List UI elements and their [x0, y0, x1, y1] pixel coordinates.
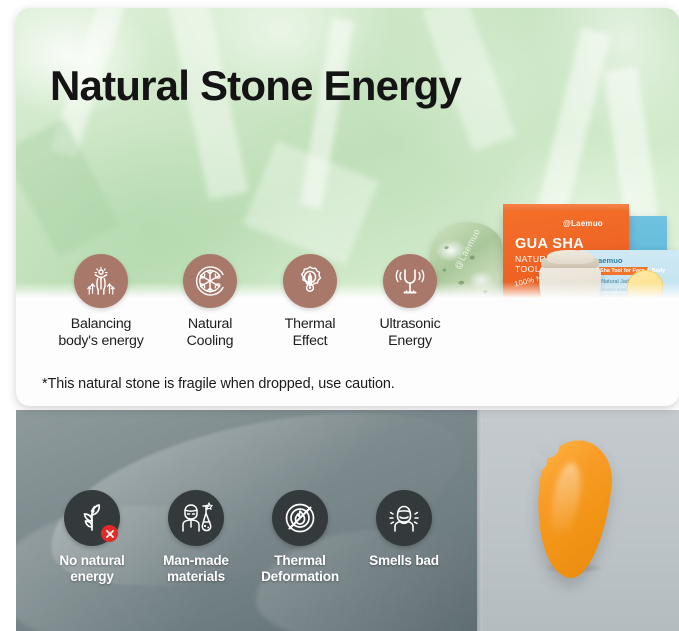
- pro-icon-circle: [183, 254, 237, 308]
- con-feature-label: No natural energy: [59, 553, 124, 585]
- bad-smell-icon: [387, 501, 421, 535]
- orange-box-brand: @Laemuo: [563, 219, 603, 228]
- con-feature-row: No natural energy: [40, 490, 456, 585]
- con-icon-circle: [168, 490, 224, 546]
- pro-icon-circle: [383, 254, 437, 308]
- tuning-fork-icon: [393, 264, 427, 298]
- pouch-ruffle: [547, 250, 593, 264]
- con-feature-smells-bad: Smells bad: [352, 490, 456, 569]
- x-mark-icon: [101, 525, 118, 542]
- panel-divider: [477, 410, 482, 631]
- con-feature-label: Man-made materials: [163, 553, 229, 585]
- pro-feature-label: Balancing body's energy: [58, 316, 143, 350]
- pro-icon-circle: [283, 254, 337, 308]
- pro-feature-row: Balancing body's energy N: [42, 254, 460, 350]
- con-feature-man-made-materials: Man-made materials: [144, 490, 248, 585]
- con-feature-label: Smells bad: [369, 553, 439, 569]
- stone-speck: [444, 246, 448, 249]
- stone-vein: [16, 119, 120, 258]
- page-title: Natural Stone Energy: [50, 62, 461, 110]
- con-panel: No natural energy: [16, 410, 679, 631]
- disclaimer-text: *This natural stone is fragile when drop…: [42, 376, 395, 392]
- pro-feature-ultrasonic-energy: Ultrasonic Energy: [360, 254, 460, 350]
- pro-feature-label: Thermal Effect: [285, 316, 336, 350]
- con-feature-label: Thermal Deformation: [261, 553, 339, 585]
- no-flame-icon: [283, 501, 317, 535]
- pro-feature-label: Natural Cooling: [187, 316, 234, 350]
- thermometer-icon: [293, 264, 327, 298]
- pro-panel: Natural Stone Energy @Laemuo @Laemuo GUA…: [16, 8, 679, 406]
- snowflake-icon: [193, 264, 227, 298]
- con-icon-circle: [64, 490, 120, 546]
- stone-speck: [470, 255, 475, 260]
- person-energy-icon: [85, 265, 117, 297]
- pro-feature-natural-cooling: Natural Cooling: [160, 254, 260, 350]
- con-product-photo: [477, 410, 679, 631]
- pro-feature-thermal-effect: Thermal Effect: [260, 254, 360, 350]
- con-icon-circle: [272, 490, 328, 546]
- pro-feature-balancing-energy: Balancing body's energy: [42, 254, 160, 350]
- con-feature-thermal-deformation: Thermal Deformation: [248, 490, 352, 585]
- pro-icon-circle: [74, 254, 128, 308]
- scientist-flask-icon: [179, 501, 213, 535]
- pro-feature-label: Ultrasonic Energy: [379, 316, 440, 350]
- stone-vein: [243, 141, 379, 266]
- con-feature-no-natural-energy: No natural energy: [40, 490, 144, 585]
- con-icon-circle: [376, 490, 432, 546]
